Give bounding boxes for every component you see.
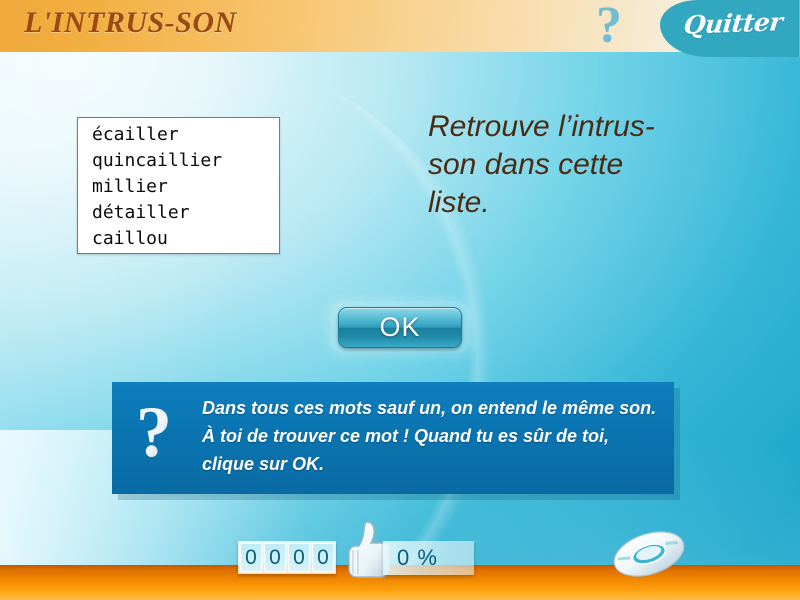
score-digit: 0 — [312, 543, 334, 572]
list-item[interactable]: détailler — [92, 200, 279, 226]
word-list: écailler quincaillier millier détailler … — [92, 122, 279, 252]
list-item[interactable]: millier — [92, 174, 279, 200]
svg-text:?: ? — [136, 394, 172, 472]
score-digit: 0 — [288, 543, 310, 572]
life-ring-help-icon[interactable] — [608, 527, 690, 582]
ok-button[interactable]: OK — [330, 301, 470, 353]
percent-label: 0 % — [397, 545, 438, 571]
svg-text:?: ? — [596, 0, 622, 52]
hint-text: Dans tous ces mots sauf un, on entend le… — [202, 394, 657, 478]
list-item[interactable]: écailler — [92, 122, 279, 148]
app-stage: L'INTRUS-SON ? Quitter écailler quincail… — [0, 0, 800, 600]
hint-box: ? Dans tous ces mots sauf un, on entend … — [112, 382, 674, 494]
question-mark-icon: ? — [132, 394, 194, 476]
percent-panel: 0 % — [383, 541, 474, 575]
help-question-icon[interactable]: ? — [588, 0, 640, 52]
list-item[interactable]: caillou — [92, 226, 279, 252]
word-list-box[interactable]: écailler quincaillier millier détailler … — [77, 117, 280, 254]
quit-button-label: Quitter — [672, 7, 794, 40]
page-title: L'INTRUS-SON — [24, 6, 237, 40]
score-digit: 0 — [240, 543, 262, 572]
ok-button-label: OK — [379, 312, 420, 343]
score-digit: 0 — [264, 543, 286, 572]
list-item[interactable]: quincaillier — [92, 148, 279, 174]
quit-button[interactable]: Quitter — [660, 0, 800, 57]
ok-button-face: OK — [338, 307, 462, 348]
score-counter: 0 0 0 0 — [238, 541, 336, 574]
instruction-text: Retrouve l’intrus-son dans cette liste. — [428, 108, 658, 222]
